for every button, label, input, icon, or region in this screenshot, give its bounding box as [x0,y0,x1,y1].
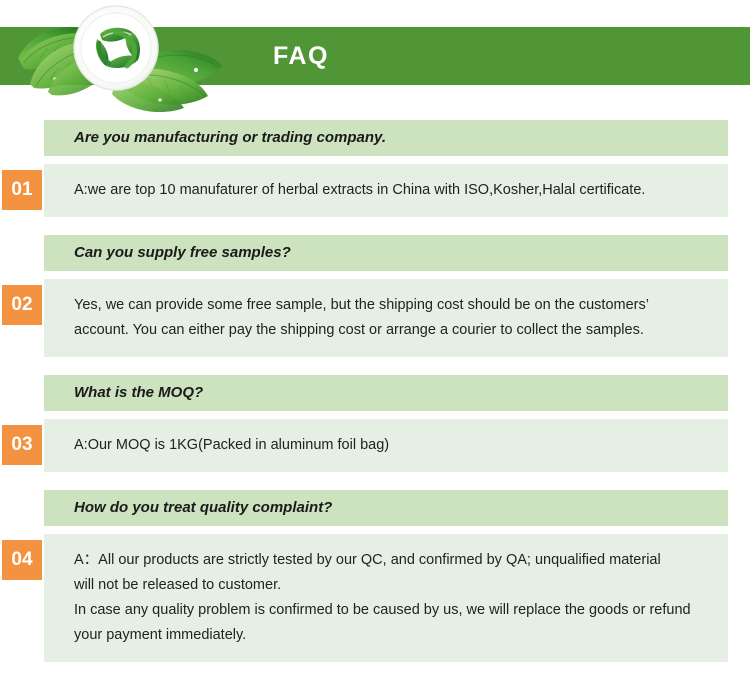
faq-number-badge: 03 [2,425,42,465]
faq-list: 01 Are you manufacturing or trading comp… [0,120,750,680]
faq-answer: A:we are top 10 manufaturer of herbal ex… [44,164,728,217]
faq-number-badge: 02 [2,285,42,325]
page-title: FAQ [273,40,329,72]
faq-answer: A：All our products are strictly tested b… [44,534,728,662]
faq-question: Can you supply free samples? [44,235,728,271]
faq-number-badge: 01 [2,170,42,210]
page-header: FAQ [0,0,750,120]
faq-item: 04 How do you treat quality complaint? A… [0,490,750,662]
faq-number-badge: 04 [2,540,42,580]
faq-answer: A:Our MOQ is 1KG(Packed in aluminum foil… [44,419,728,472]
faq-question: What is the MOQ? [44,375,728,411]
brand-logo [8,0,238,120]
faq-item: 03 What is the MOQ? A:Our MOQ is 1KG(Pac… [0,375,750,472]
faq-answer: Yes, we can provide some free sample, bu… [44,279,728,357]
leaf-recycle-logo-icon [8,0,238,120]
faq-question: Are you manufacturing or trading company… [44,120,728,156]
faq-item: 02 Can you supply free samples? Yes, we … [0,235,750,357]
faq-question: How do you treat quality complaint? [44,490,728,526]
faq-item: 01 Are you manufacturing or trading comp… [0,120,750,217]
